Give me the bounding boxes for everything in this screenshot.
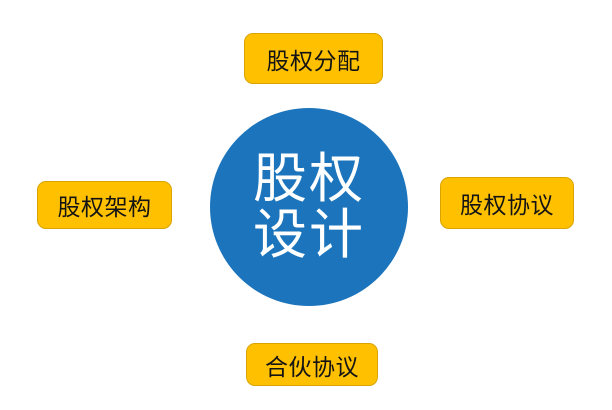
diagram-canvas: 股权 设计 股权分配 股权架构 股权协议 合伙协议 (0, 0, 612, 410)
node-top-equity-distribution[interactable]: 股权分配 (244, 33, 383, 84)
center-node-label-line-1: 股权 (253, 151, 365, 207)
node-right-equity-agreement[interactable]: 股权协议 (440, 177, 574, 229)
node-right-label: 股权协议 (460, 186, 554, 220)
center-node-equity-design[interactable]: 股权 设计 (210, 108, 408, 306)
node-bottom-label: 合伙协议 (265, 348, 359, 382)
node-bottom-partnership-agreement[interactable]: 合伙协议 (246, 343, 378, 386)
center-node-label-line-2: 设计 (253, 207, 365, 263)
node-top-label: 股权分配 (267, 42, 361, 76)
node-left-label: 股权架构 (58, 188, 152, 222)
node-left-equity-structure[interactable]: 股权架构 (37, 181, 172, 229)
